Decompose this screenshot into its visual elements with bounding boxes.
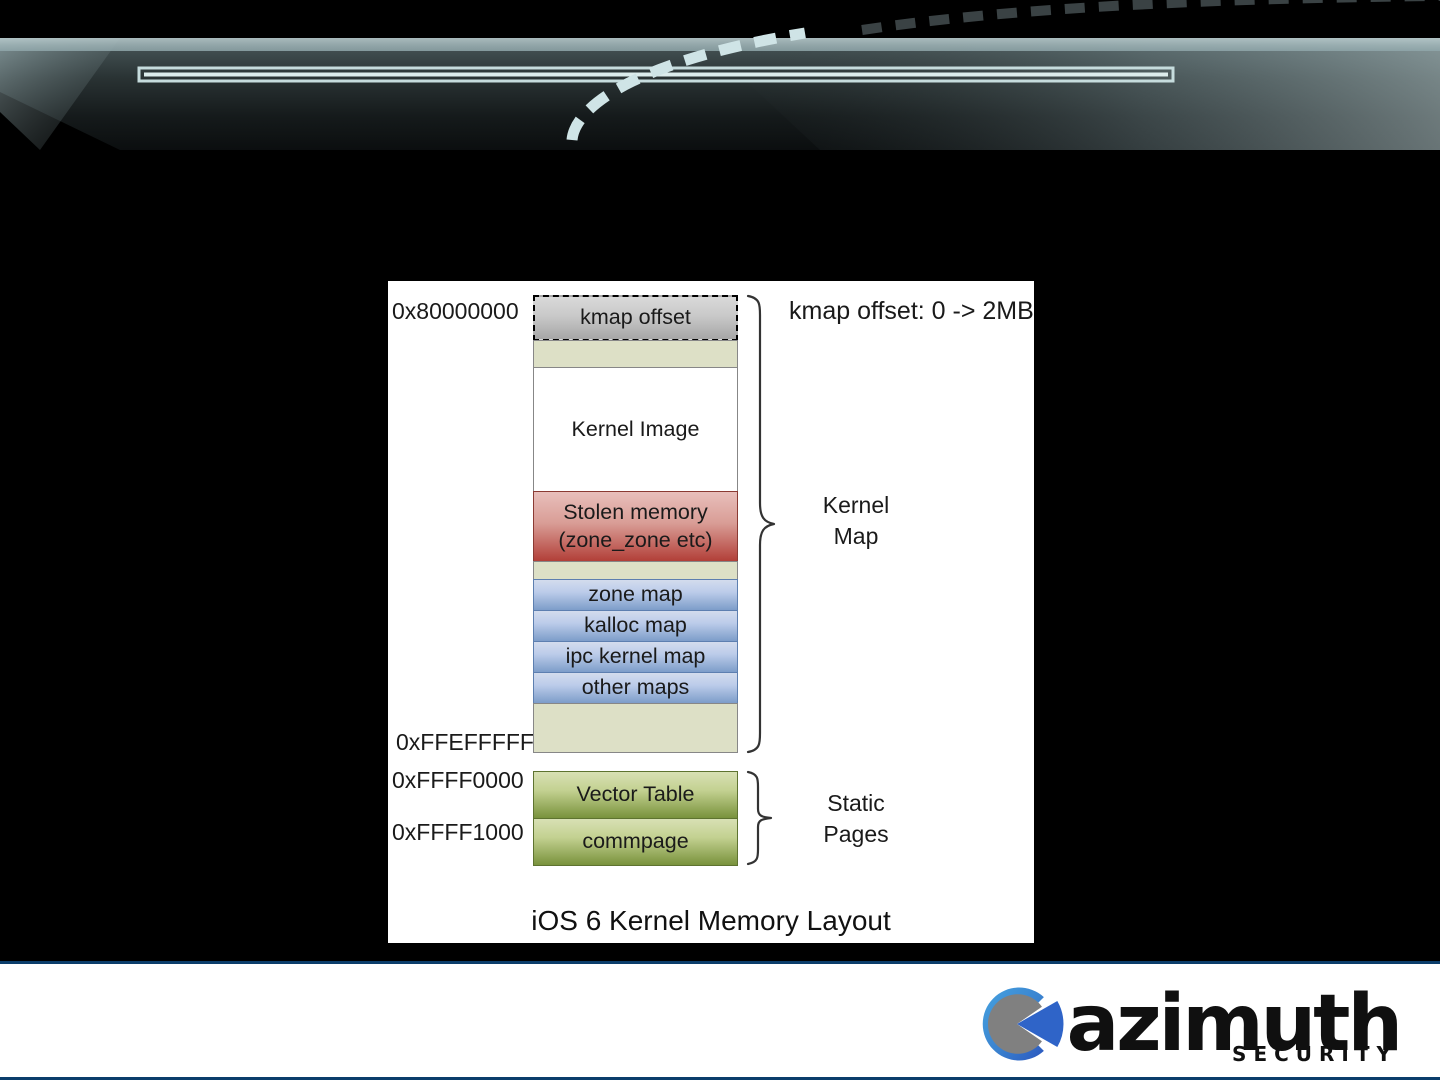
kernel-map-brace: [744, 293, 778, 755]
azimuth-logo-tagline: SECURITY: [1232, 1042, 1398, 1066]
memory-block-vector-table: Vector Table: [533, 771, 738, 819]
memory-block-kalloc-map: kalloc map: [533, 610, 738, 642]
header-band-body: [0, 38, 1440, 150]
memory-block-kernel-image: Kernel Image: [533, 367, 738, 492]
memory-block-label: Kernel Image: [572, 416, 700, 444]
kmap-offset-note: kmap offset: 0 -> 2MB: [789, 297, 1034, 326]
address-label-0xFFFF1000: 0xFFFF1000: [392, 819, 524, 846]
header-dashed-arc-dark: [862, 0, 1440, 30]
header-band-left-wedge: [0, 38, 120, 150]
kernel-map-brace-label-line2: Map: [786, 521, 926, 552]
memory-block-pad-top: [533, 340, 738, 368]
static-pages-brace-label-line1: Static: [786, 788, 926, 819]
kernel-map-brace-label: Kernel Map: [786, 490, 926, 552]
memory-block-label: commpage: [582, 828, 688, 856]
static-pages-brace-label-line2: Pages: [786, 819, 926, 850]
memory-block-kmap-offset: kmap offset: [533, 295, 738, 341]
slide-footer: azimuth SECURITY: [0, 961, 1440, 1080]
static-pages-brace: [744, 769, 778, 867]
memory-block-stolen-memory: Stolen memory (zone_zone etc): [533, 491, 738, 562]
memory-block-pad-bottom: [533, 703, 738, 753]
header-band-sheen: [700, 38, 1440, 150]
address-label-0xFFEFFFFF: 0xFFEFFFFF: [396, 729, 534, 756]
memory-block-zone-map: zone map: [533, 579, 738, 611]
address-label-0x80000000: 0x80000000: [392, 298, 519, 325]
azimuth-logo-mark-icon: [969, 976, 1065, 1072]
static-pages-brace-label: Static Pages: [786, 788, 926, 850]
memory-block-other-maps: other maps: [533, 672, 738, 704]
memory-block-label: kmap offset: [580, 304, 691, 332]
memory-block-ipc-kernel-map: ipc kernel map: [533, 641, 738, 673]
memory-layout-diagram: 0x80000000 0xFFEFFFFF 0xFFFF0000 0xFFFF1…: [388, 281, 1034, 943]
memory-block-label: zone map: [588, 581, 682, 609]
slide-root: 0x80000000 0xFFEFFFFF 0xFFFF0000 0xFFFF1…: [0, 0, 1440, 1080]
memory-block-label: Stolen memory: [563, 499, 708, 527]
memory-block-commpage: commpage: [533, 818, 738, 866]
azimuth-logo: azimuth SECURITY: [969, 976, 1400, 1072]
memory-block-label-line2: (zone_zone etc): [558, 527, 712, 555]
header-decoration: [0, 0, 1440, 175]
memory-block-pad-mid: [533, 561, 738, 580]
memory-block-label: kalloc map: [584, 612, 687, 640]
azimuth-logo-text: azimuth SECURITY: [1067, 976, 1400, 1072]
kernel-map-brace-label-line1: Kernel: [786, 490, 926, 521]
memory-block-label: Vector Table: [577, 781, 695, 809]
address-label-0xFFFF0000: 0xFFFF0000: [392, 767, 524, 794]
memory-block-label: ipc kernel map: [566, 643, 706, 671]
memory-block-label: other maps: [582, 674, 690, 702]
header-band-top-strip: [0, 38, 1440, 51]
header-rule-outline: [139, 68, 1173, 81]
header-dashed-arc: [572, 33, 805, 140]
diagram-caption: iOS 6 Kernel Memory Layout: [388, 905, 1034, 937]
